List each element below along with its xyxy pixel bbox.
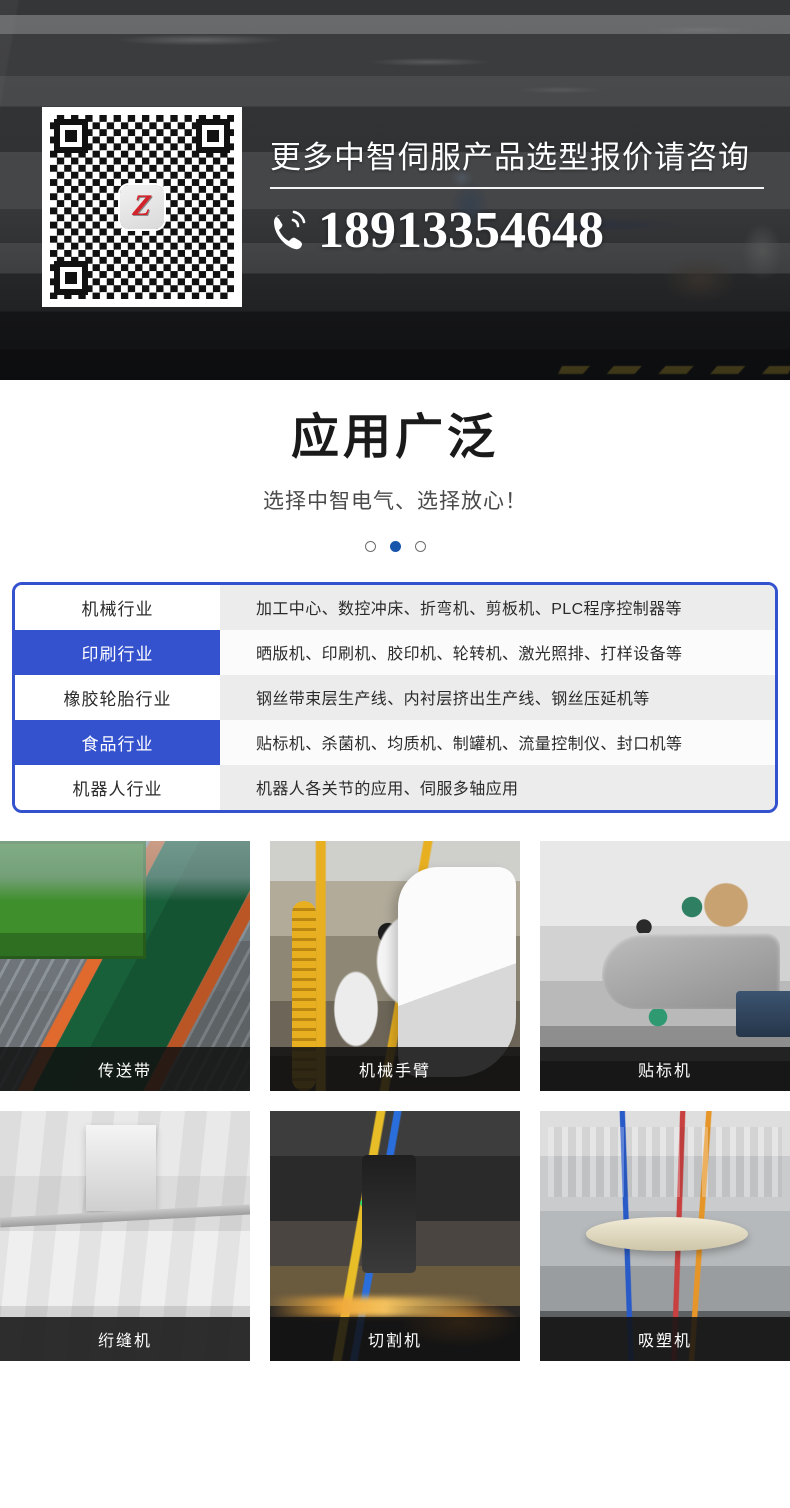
- gallery-caption: 传送带: [0, 1047, 250, 1091]
- banner-divider: [270, 187, 764, 189]
- banner-phone-row[interactable]: 18913354648: [270, 205, 770, 257]
- banner-phone-number: 18913354648: [318, 205, 604, 257]
- gallery-item-robot-arm[interactable]: 机械手臂: [270, 841, 520, 1091]
- table-row[interactable]: 食品行业 贴标机、杀菌机、均质机、制罐机、流量控制仪、封口机等: [15, 720, 775, 765]
- gallery-item-vacuum-forming-machine[interactable]: 吸塑机: [540, 1111, 790, 1361]
- table-row[interactable]: 机械行业 加工中心、数控冲床、折弯机、剪板机、PLC程序控制器等: [15, 585, 775, 630]
- table-row[interactable]: 印刷行业 晒版机、印刷机、胶印机、轮转机、激光照排、打样设备等: [15, 630, 775, 675]
- gallery-item-cutting-machine[interactable]: 切割机: [270, 1111, 520, 1361]
- phone-ring-icon: [270, 209, 310, 253]
- industry-name: 印刷行业: [15, 630, 220, 675]
- brand-logo-letter: Z: [131, 191, 152, 221]
- industry-application-table: 机械行业 加工中心、数控冲床、折弯机、剪板机、PLC程序控制器等 印刷行业 晒版…: [12, 582, 778, 813]
- hero-banner: Z 更多中智伺服产品选型报价请咨询 18913354648: [0, 0, 790, 380]
- brand-logo: Z: [120, 185, 164, 229]
- industry-name: 机器人行业: [15, 765, 220, 810]
- application-gallery: 传送带 机械手臂 贴标机 绗缝机 切割机 吸塑机: [0, 841, 790, 1361]
- table-row[interactable]: 橡胶轮胎行业 钢丝带束层生产线、内衬层挤出生产线、钢丝压延机等: [15, 675, 775, 720]
- industry-applications: 钢丝带束层生产线、内衬层挤出生产线、钢丝压延机等: [220, 675, 775, 720]
- page-title: 应用广泛: [0, 412, 790, 465]
- carousel-dot-1[interactable]: [365, 541, 376, 552]
- carousel-dots[interactable]: [0, 541, 790, 552]
- industry-name: 橡胶轮胎行业: [15, 675, 220, 720]
- industry-applications: 贴标机、杀菌机、均质机、制罐机、流量控制仪、封口机等: [220, 720, 775, 765]
- industry-name: 食品行业: [15, 720, 220, 765]
- section-header: 应用广泛 选择中智电气、选择放心！: [0, 380, 790, 552]
- gallery-item-quilting-machine[interactable]: 绗缝机: [0, 1111, 250, 1361]
- banner-text-block: 更多中智伺服产品选型报价请咨询 18913354648: [270, 140, 770, 257]
- gallery-caption: 绗缝机: [0, 1317, 250, 1361]
- gallery-item-labeling-machine[interactable]: 贴标机: [540, 841, 790, 1091]
- industry-applications: 加工中心、数控冲床、折弯机、剪板机、PLC程序控制器等: [220, 585, 775, 630]
- gallery-caption: 贴标机: [540, 1047, 790, 1091]
- gallery-caption: 切割机: [270, 1317, 520, 1361]
- industry-applications: 机器人各关节的应用、伺服多轴应用: [220, 765, 775, 810]
- banner-headline: 更多中智伺服产品选型报价请咨询: [270, 140, 770, 176]
- qr-code-image: Z: [50, 115, 234, 299]
- qr-code-card[interactable]: Z: [42, 107, 242, 307]
- qr-finder-bottom-left: [54, 261, 88, 295]
- carousel-dot-3[interactable]: [415, 541, 426, 552]
- industry-applications: 晒版机、印刷机、胶印机、轮转机、激光照排、打样设备等: [220, 630, 775, 675]
- table-row[interactable]: 机器人行业 机器人各关节的应用、伺服多轴应用: [15, 765, 775, 810]
- gallery-caption: 机械手臂: [270, 1047, 520, 1091]
- gallery-item-conveyor[interactable]: 传送带: [0, 841, 250, 1091]
- qr-finder-top-right: [196, 119, 230, 153]
- page-subtitle: 选择中智电气、选择放心！: [0, 485, 790, 515]
- industry-name: 机械行业: [15, 585, 220, 630]
- gallery-caption: 吸塑机: [540, 1317, 790, 1361]
- carousel-dot-2[interactable]: [390, 541, 401, 552]
- qr-finder-top-left: [54, 119, 88, 153]
